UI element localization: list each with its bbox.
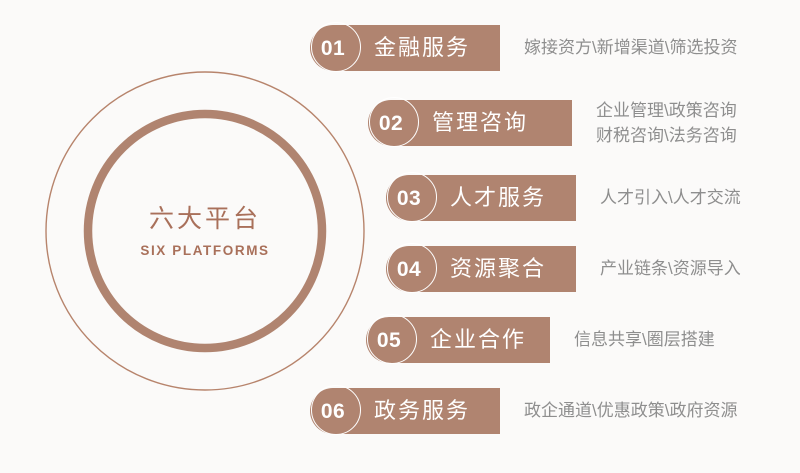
platform-title-03: 人才服务 [432,187,562,209]
platform-badge-06: 06 [310,388,356,434]
platform-title-06: 政务服务 [356,400,486,422]
center-title-en: SIX PLATFORMS [140,243,269,258]
platform-desc-line: 人才引入\人才交流 [600,186,741,211]
platform-desc-06: 政企通道\优惠政策\政府资源 [524,399,737,424]
platform-badge-03: 03 [386,175,432,221]
center-title-cn: 六大平台 [149,204,261,235]
platform-desc-02: 企业管理\政策咨询 财税咨询\法务咨询 [596,99,737,148]
platform-number-02: 02 [379,113,403,134]
platform-desc-line: 产业链条\资源导入 [600,257,741,282]
platform-number-05: 05 [377,330,401,351]
platform-desc-03: 人才引入\人才交流 [600,186,741,211]
platform-row-03[interactable]: 03 人才服务 人才引入\人才交流 [386,175,741,221]
platform-desc-line: 政企通道\优惠政策\政府资源 [524,399,737,424]
platform-bar-02[interactable]: 02 管理咨询 [368,100,572,146]
platform-desc-01: 嫁接资方\新增渠道\筛选投资 [524,36,737,61]
platform-number-01: 01 [321,38,345,59]
platform-bar-01[interactable]: 01 金融服务 [310,25,500,71]
platform-row-02[interactable]: 02 管理咨询 企业管理\政策咨询 财税咨询\法务咨询 [368,100,737,146]
infographic-canvas: 六大平台 SIX PLATFORMS 01 金融服务 嫁接资方\新增渠道\筛选投… [0,0,800,473]
platform-row-01[interactable]: 01 金融服务 嫁接资方\新增渠道\筛选投资 [310,25,737,71]
platform-desc-line: 财税咨询\法务咨询 [596,124,737,149]
center-text-block: 六大平台 SIX PLATFORMS [44,70,366,392]
platform-row-04[interactable]: 04 资源聚合 产业链条\资源导入 [386,246,741,292]
platform-desc-04: 产业链条\资源导入 [600,257,741,282]
platform-bar-05[interactable]: 05 企业合作 [366,317,550,363]
platform-title-01: 金融服务 [356,37,486,59]
platform-number-06: 06 [321,401,345,422]
platform-number-03: 03 [397,188,421,209]
platform-badge-05: 05 [366,317,412,363]
platform-badge-01: 01 [310,25,356,71]
platform-desc-line: 嫁接资方\新增渠道\筛选投资 [524,36,737,61]
platform-desc-line: 企业管理\政策咨询 [596,99,737,124]
platform-desc-line: 信息共享\圈层搭建 [574,328,715,353]
platform-title-05: 企业合作 [412,329,542,351]
platform-row-05[interactable]: 05 企业合作 信息共享\圈层搭建 [366,317,715,363]
platform-title-04: 资源聚合 [432,258,562,280]
platform-number-04: 04 [397,259,421,280]
platform-bar-06[interactable]: 06 政务服务 [310,388,500,434]
platform-desc-05: 信息共享\圈层搭建 [574,328,715,353]
platform-row-06[interactable]: 06 政务服务 政企通道\优惠政策\政府资源 [310,388,737,434]
platform-badge-02: 02 [368,100,414,146]
platform-title-02: 管理咨询 [414,112,544,134]
platform-bar-03[interactable]: 03 人才服务 [386,175,576,221]
platform-bar-04[interactable]: 04 资源聚合 [386,246,576,292]
platform-badge-04: 04 [386,246,432,292]
center-emblem: 六大平台 SIX PLATFORMS [44,70,366,392]
